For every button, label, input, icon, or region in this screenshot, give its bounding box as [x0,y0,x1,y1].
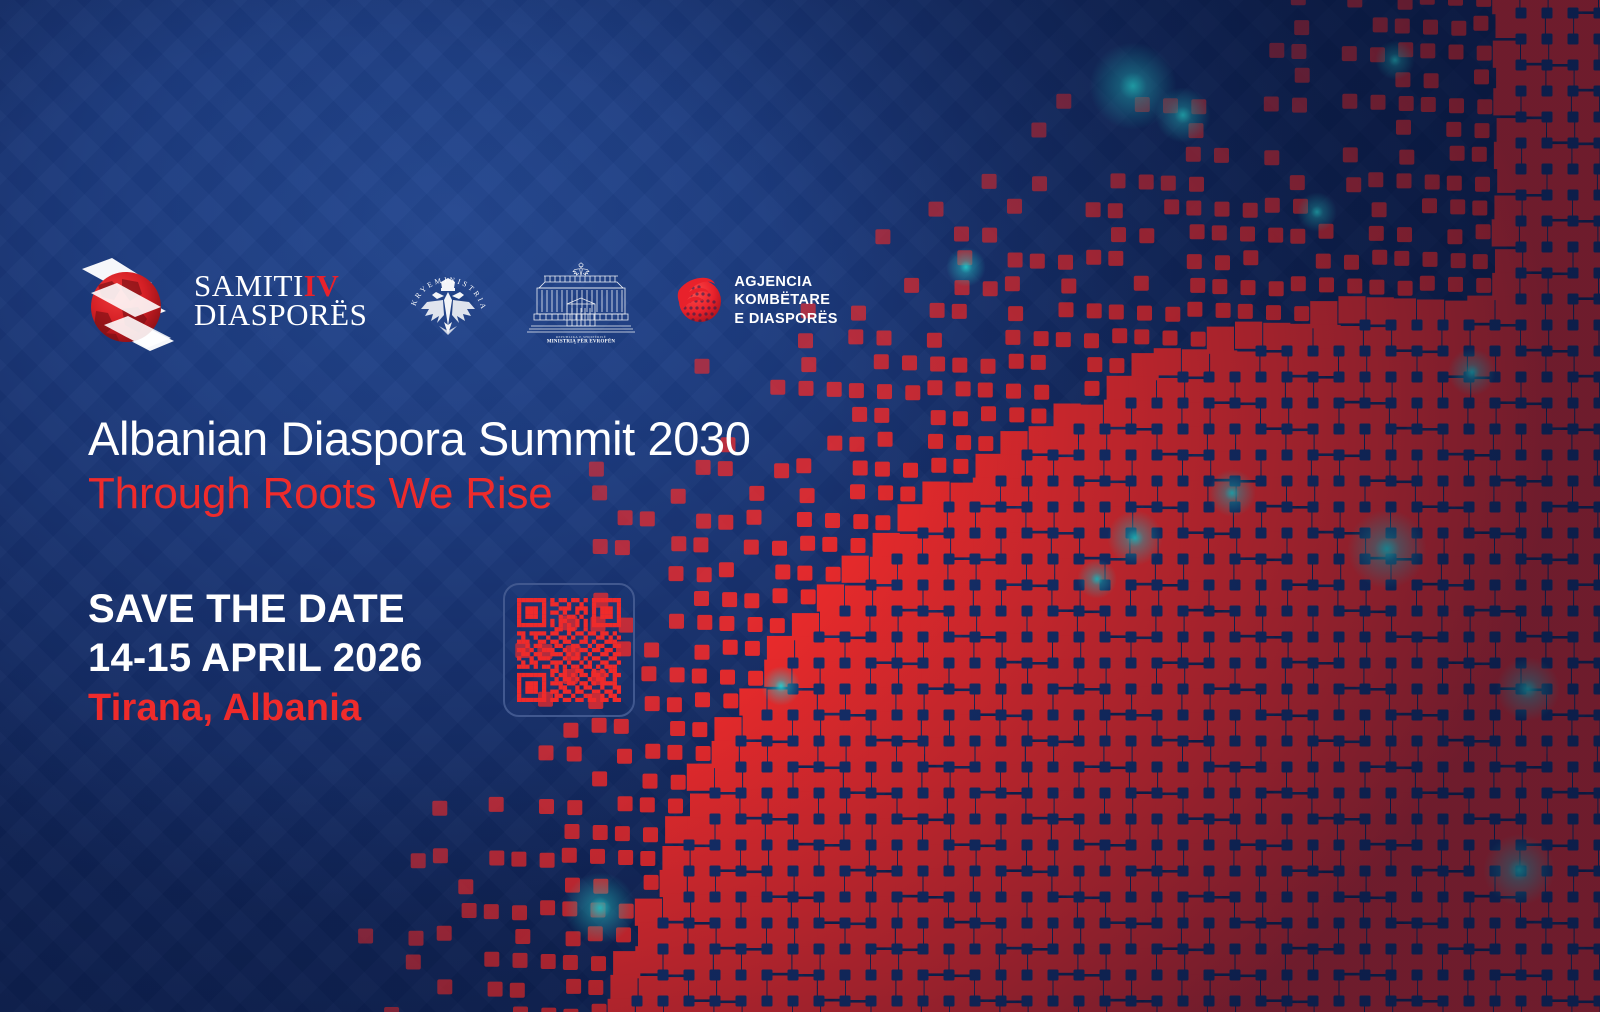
ministry-logo[interactable]: REPUBLIKA E SHQIPËRISË MINISTRIA PËR EVR… [521,258,641,344]
agjencia-line1: AGJENCIA [734,273,838,292]
winged-globe-icon [78,245,188,357]
agjencia-line3: E DIASPORËS [734,310,838,329]
save-the-date-label: SAVE THE DATE [88,585,423,634]
logo-row: SAMITIIV DIASPORËS KRYEMINISTRIA [78,243,838,358]
summit-logo-wordmark: SAMITIIV DIASPORËS [194,272,367,329]
double-headed-eagle-icon: KRYEMINISTRIA [405,256,491,346]
ministry-label-line1: MINISTRIA PËR EVROPËN [547,338,616,343]
page-tagline: Through Roots We Rise [88,468,750,521]
page-title: Albanian Diaspora Summit 2030 [88,413,750,466]
kryeministria-logo[interactable]: KRYEMINISTRIA [405,256,491,346]
event-dates: 14-15 APRIL 2026 [88,634,423,683]
agjencia-line2: KOMBËTARE [734,291,838,310]
summit-logo[interactable]: SAMITIIV DIASPORËS [78,245,367,357]
government-building-icon: REPUBLIKA E SHQIPËRISË MINISTRIA PËR EVR… [521,258,641,344]
agjencia-wordmark: AGJENCIA KOMBËTARE E DIASPORËS [734,273,838,329]
summit-logo-line2: DIASPORËS [194,301,367,330]
ministry-label-republic: REPUBLIKA E SHQIPËRISË [556,334,606,339]
qr-code-frame[interactable] [503,583,635,717]
qr-code[interactable] [517,598,621,702]
save-the-date-block: SAVE THE DATE 14-15 APRIL 2026 Tirana, A… [88,585,423,732]
poster-canvas: SAMITIIV DIASPORËS KRYEMINISTRIA [0,0,1600,1012]
headline-block: Albanian Diaspora Summit 2030 Through Ro… [88,413,750,520]
event-location: Tirana, Albania [88,685,423,733]
red-globe-swoosh-icon [673,274,723,326]
agjencia-logo[interactable]: AGJENCIA KOMBËTARE E DIASPORËS [673,273,838,329]
